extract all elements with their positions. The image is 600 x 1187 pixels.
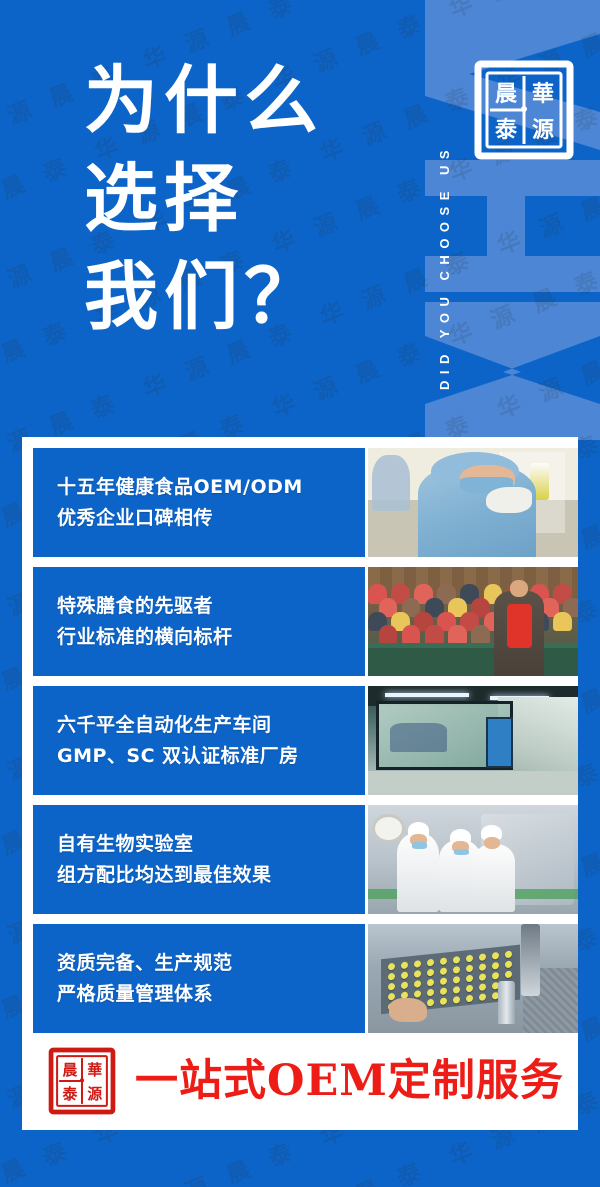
feature-card[interactable]: 资质完备、生产规范 严格质量管理体系 bbox=[33, 924, 578, 1033]
footer-headline: 一站式OEM定制服务 bbox=[135, 1057, 564, 1105]
svg-text:泰: 泰 bbox=[61, 1085, 77, 1103]
feature-line: 行业标准的横向标杆 bbox=[57, 622, 365, 653]
feature-card[interactable]: 自有生物实验室 组方配比均达到最佳效果 bbox=[33, 805, 578, 914]
svg-text:源: 源 bbox=[87, 1085, 102, 1103]
feature-line: 十五年健康食品OEM/ODM bbox=[57, 472, 365, 503]
blister-machine-photo bbox=[368, 924, 578, 1033]
footer-banner: 晨 華 泰 源 一站式OEM定制服务 bbox=[33, 1043, 578, 1119]
feature-line: 特殊膳食的先驱者 bbox=[57, 591, 365, 622]
feature-line: 自有生物实验室 bbox=[57, 829, 365, 860]
svg-text:華: 華 bbox=[532, 81, 554, 107]
content-panel: 十五年健康食品OEM/ODM 优秀企业口碑相传 bbox=[22, 437, 578, 1130]
poster-root: 为什么 选择 我们？ DID YOU CHOOSE US 晨 華 泰 源 bbox=[0, 0, 600, 1187]
svg-text:晨: 晨 bbox=[62, 1061, 77, 1079]
feature-card-text: 六千平全自动化生产车间 GMP、SC 双认证标准厂房 bbox=[33, 686, 365, 795]
feature-line: 六千平全自动化生产车间 bbox=[57, 710, 365, 741]
feature-card-text: 自有生物实验室 组方配比均达到最佳效果 bbox=[33, 805, 365, 914]
feature-card[interactable]: 特殊膳食的先驱者 行业标准的横向标杆 bbox=[33, 567, 578, 676]
vertical-tagline: DID YOU CHOOSE US bbox=[437, 18, 452, 390]
page-title: 为什么 选择 我们？ bbox=[84, 52, 324, 346]
title-line-3: 我们？ bbox=[84, 248, 324, 346]
feature-card[interactable]: 十五年健康食品OEM/ODM 优秀企业口碑相传 bbox=[33, 448, 578, 557]
feature-line: 优秀企业口碑相传 bbox=[57, 503, 365, 534]
lab-technician-photo bbox=[368, 448, 578, 557]
svg-text:源: 源 bbox=[532, 117, 554, 143]
feature-line: 严格质量管理体系 bbox=[57, 979, 365, 1010]
svg-text:晨: 晨 bbox=[495, 81, 518, 107]
feature-line: 资质完备、生产规范 bbox=[57, 948, 365, 979]
feature-card[interactable]: 六千平全自动化生产车间 GMP、SC 双认证标准厂房 bbox=[33, 686, 578, 795]
svg-text:華: 華 bbox=[87, 1061, 102, 1079]
conference-audience-photo bbox=[368, 567, 578, 676]
feature-line: GMP、SC 双认证标准厂房 bbox=[57, 741, 365, 772]
feature-card-text: 十五年健康食品OEM/ODM 优秀企业口碑相传 bbox=[33, 448, 365, 557]
packing-line-photo bbox=[368, 805, 578, 914]
feature-line: 组方配比均达到最佳效果 bbox=[57, 860, 365, 891]
brand-seal-red-icon: 晨 華 泰 源 bbox=[47, 1046, 117, 1116]
title-line-1: 为什么 bbox=[84, 52, 324, 150]
feature-card-list: 十五年健康食品OEM/ODM 优秀企业口碑相传 bbox=[33, 448, 578, 1043]
feature-card-text: 特殊膳食的先驱者 行业标准的横向标杆 bbox=[33, 567, 365, 676]
feature-card-text: 资质完备、生产规范 严格质量管理体系 bbox=[33, 924, 365, 1033]
gmp-workshop-photo bbox=[368, 686, 578, 795]
brand-seal-icon: 晨 華 泰 源 bbox=[472, 58, 576, 162]
title-line-2: 选择 bbox=[84, 150, 324, 248]
svg-text:泰: 泰 bbox=[494, 117, 518, 143]
